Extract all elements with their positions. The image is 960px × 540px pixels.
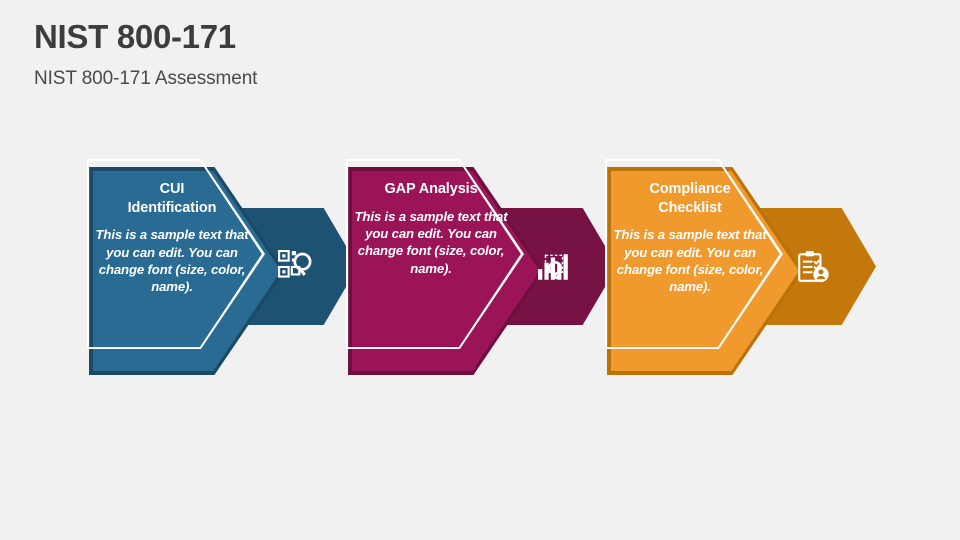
process-step-3[interactable]: Compliance Checklist This is a sample te… bbox=[596, 150, 896, 400]
step-1-body: This is a sample text that you can edit.… bbox=[92, 226, 252, 296]
process-step-1[interactable]: CUI Identification This is a sample text… bbox=[78, 150, 378, 400]
step-2-text-block: GAP Analysis This is a sample text that … bbox=[351, 172, 511, 342]
step-3-heading: Compliance Checklist bbox=[649, 180, 730, 217]
step-1-heading: CUI Identification bbox=[128, 180, 217, 217]
clipboard-person-icon bbox=[794, 248, 832, 286]
step-3-body: This is a sample text that you can edit.… bbox=[610, 226, 770, 296]
step-2-body: This is a sample text that you can edit.… bbox=[351, 208, 511, 278]
process-diagram: CUI Identification This is a sample text… bbox=[0, 0, 960, 540]
qr-code-search-icon bbox=[276, 248, 314, 286]
process-step-2[interactable]: GAP Analysis This is a sample text that … bbox=[337, 150, 637, 400]
step-3-text-block: Compliance Checklist This is a sample te… bbox=[610, 172, 770, 342]
step-1-text-block: CUI Identification This is a sample text… bbox=[92, 172, 252, 342]
slide-canvas: NIST 800-171 NIST 800-171 Assessment CUI… bbox=[0, 0, 960, 540]
step-2-heading: GAP Analysis bbox=[384, 180, 477, 199]
bar-chart-search-icon bbox=[535, 248, 573, 286]
